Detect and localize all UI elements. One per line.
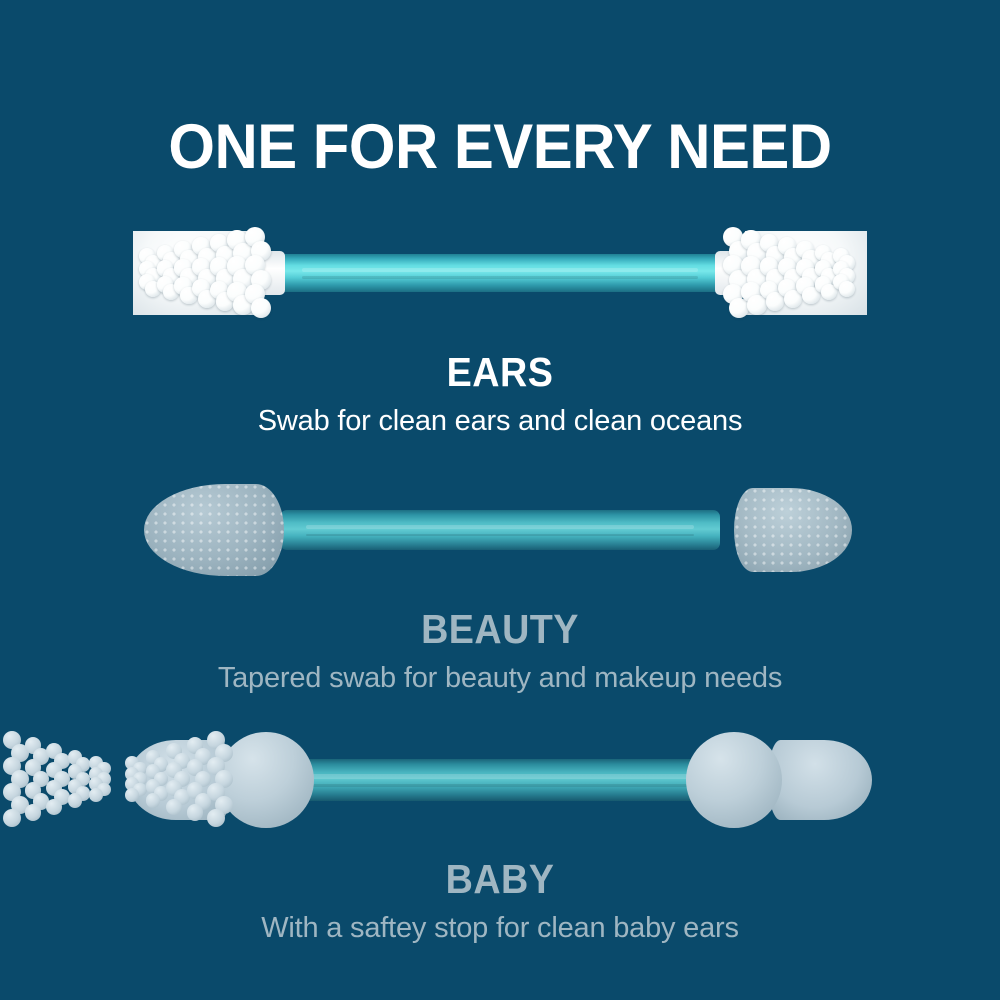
tip-nubs [719,227,867,319]
spiral-spike-tip [768,740,872,820]
product-image-ears [0,195,1000,350]
tip-spike [146,793,161,808]
stick-highlight [293,774,707,778]
product-label-beauty: BEAUTY [40,607,960,651]
tip-nub [251,298,271,318]
tip-nub [729,298,749,318]
swab-stick-beauty [280,510,720,550]
product-label-baby: BABY [40,857,960,901]
tip-spike [187,804,204,821]
tip-spike [166,799,182,815]
safety-stop-ball [686,732,782,828]
stick-highlight [302,268,698,272]
tip-nub [839,281,855,297]
product-infographic: ONE FOR EVERY NEED EARS Swab for clean e… [0,0,1000,1000]
stick-shadow [293,784,707,787]
tip-spike [3,809,21,827]
product-image-beauty [0,452,1000,607]
swab-tip-right-ears [719,227,867,319]
tip-spikes [0,702,120,857]
product-label-ears: EARS [40,350,960,394]
tip-spike [68,793,83,808]
tip-spike [25,804,42,821]
product-image-baby [0,702,1000,857]
tip-spikes [120,702,240,857]
product-section-ears: EARS Swab for clean ears and clean ocean… [0,195,1000,439]
page-title: ONE FOR EVERY NEED [25,116,975,178]
stick-highlight [306,525,693,529]
swab-stick-baby [265,759,735,801]
product-section-beauty: BEAUTY Tapered swab for beauty and makeu… [0,452,1000,696]
tip-spike [89,788,103,802]
tip-spike [46,799,62,815]
tip-spike [207,809,225,827]
swab-tip-left-ears [133,227,281,319]
tip-nubs [133,227,281,319]
stick-shadow [302,276,698,279]
product-section-baby: BABY With a saftey stop for clean baby e… [0,702,1000,946]
stick-shadow [306,534,693,537]
product-description-ears: Swab for clean ears and clean oceans [0,403,1000,439]
rounded-paddle-tip [734,488,852,572]
tapered-point-tip [144,484,284,576]
tip-spike [125,788,139,802]
product-description-baby: With a saftey stop for clean baby ears [0,910,1000,946]
product-description-beauty: Tapered swab for beauty and makeup needs [0,660,1000,696]
swab-stick-ears [275,254,725,292]
